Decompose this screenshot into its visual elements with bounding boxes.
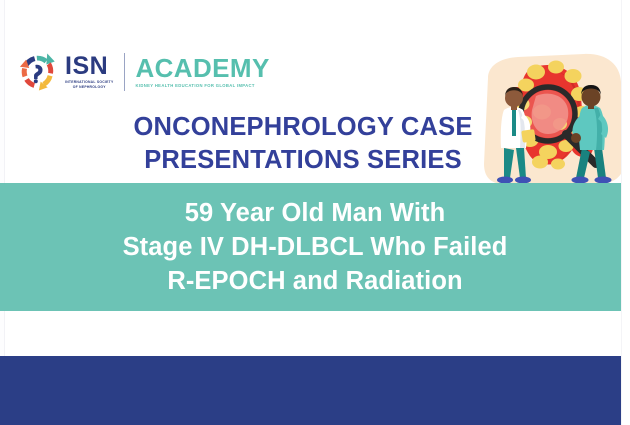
isn-wordmark: ISN INTERNATIONAL SOCIETY OF NEPHROLOGY	[65, 50, 113, 94]
logo-divider	[124, 53, 125, 91]
case-title-line-2: Stage IV DH-DLBCL Who Failed	[123, 230, 508, 264]
headline-line-2: PRESENTATIONS SERIES	[108, 144, 498, 177]
isn-brand-text: ISN	[65, 55, 113, 79]
academy-brand-text: ACADEMY	[135, 56, 269, 81]
slide-canvas: ISN INTERNATIONAL SOCIETY OF NEPHROLOGY …	[0, 0, 630, 425]
case-title-text: 59 Year Old Man With Stage IV DH-DLBCL W…	[0, 183, 630, 311]
footer-band	[0, 356, 630, 425]
headline-line-1: ONCONEPHROLOGY CASE	[108, 111, 498, 144]
series-headline: ONCONEPHROLOGY CASE PRESENTATIONS SERIES	[108, 111, 498, 176]
academy-wordmark: ACADEMY KIDNEY HEALTH EDUCATION FOR GLOB…	[135, 50, 269, 94]
isn-academy-logo: ISN INTERNATIONAL SOCIETY OF NEPHROLOGY …	[16, 50, 270, 94]
slide-right-edge	[621, 0, 630, 425]
case-title-line-3: R-EPOCH and Radiation	[167, 264, 462, 298]
academy-tagline: KIDNEY HEALTH EDUCATION FOR GLOBAL IMPAC…	[135, 83, 269, 89]
case-title-line-1: 59 Year Old Man With	[185, 196, 446, 230]
isn-subtitle-line2: OF NEPHROLOGY	[65, 85, 113, 90]
case-title-banner: 59 Year Old Man With Stage IV DH-DLBCL W…	[0, 183, 630, 311]
isn-circular-arrows-icon	[16, 50, 60, 94]
